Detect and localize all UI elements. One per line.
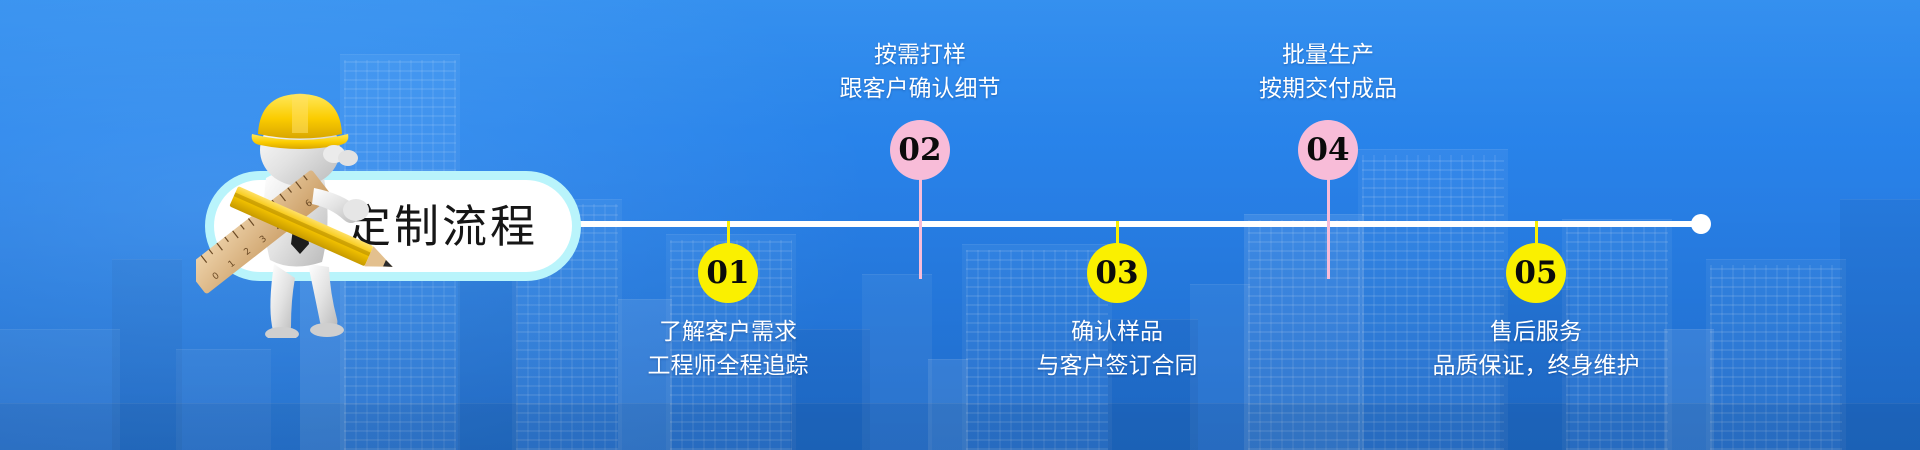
custom-process-banner: 定制流程 xyxy=(0,0,1920,450)
step-subtitle: 跟客户确认细节 xyxy=(840,72,1001,106)
step-stem xyxy=(919,178,922,279)
step-number-badge: 04 xyxy=(1298,120,1358,180)
step-caption: 了解客户需求 工程师全程追踪 xyxy=(648,315,809,383)
3d-engineer-character: 01 23 45 6 xyxy=(196,68,416,338)
step-caption: 确认样品 与客户签订合同 xyxy=(1037,315,1198,383)
step-title: 批量生产 xyxy=(1259,38,1397,72)
step-number-badge: 01 xyxy=(698,243,758,303)
step-caption: 售后服务 品质保证，终身维护 xyxy=(1433,315,1640,383)
step-title: 了解客户需求 xyxy=(648,315,809,349)
step-number-badge: 02 xyxy=(890,120,950,180)
step-subtitle: 工程师全程追踪 xyxy=(648,349,809,383)
step-number-badge: 03 xyxy=(1087,243,1147,303)
step-title: 按需打样 xyxy=(840,38,1001,72)
step-subtitle: 与客户签订合同 xyxy=(1037,349,1198,383)
timeline-end-dot xyxy=(1691,214,1711,234)
step-caption: 按需打样 跟客户确认细节 xyxy=(840,38,1001,106)
step-title: 售后服务 xyxy=(1433,315,1640,349)
step-caption: 批量生产 按期交付成品 xyxy=(1259,38,1397,106)
step-title: 确认样品 xyxy=(1037,315,1198,349)
step-stem xyxy=(1327,178,1330,279)
step-subtitle: 品质保证，终身维护 xyxy=(1433,349,1640,383)
timeline-axis xyxy=(560,221,1705,227)
step-subtitle: 按期交付成品 xyxy=(1259,72,1397,106)
step-number-badge: 05 xyxy=(1506,243,1566,303)
